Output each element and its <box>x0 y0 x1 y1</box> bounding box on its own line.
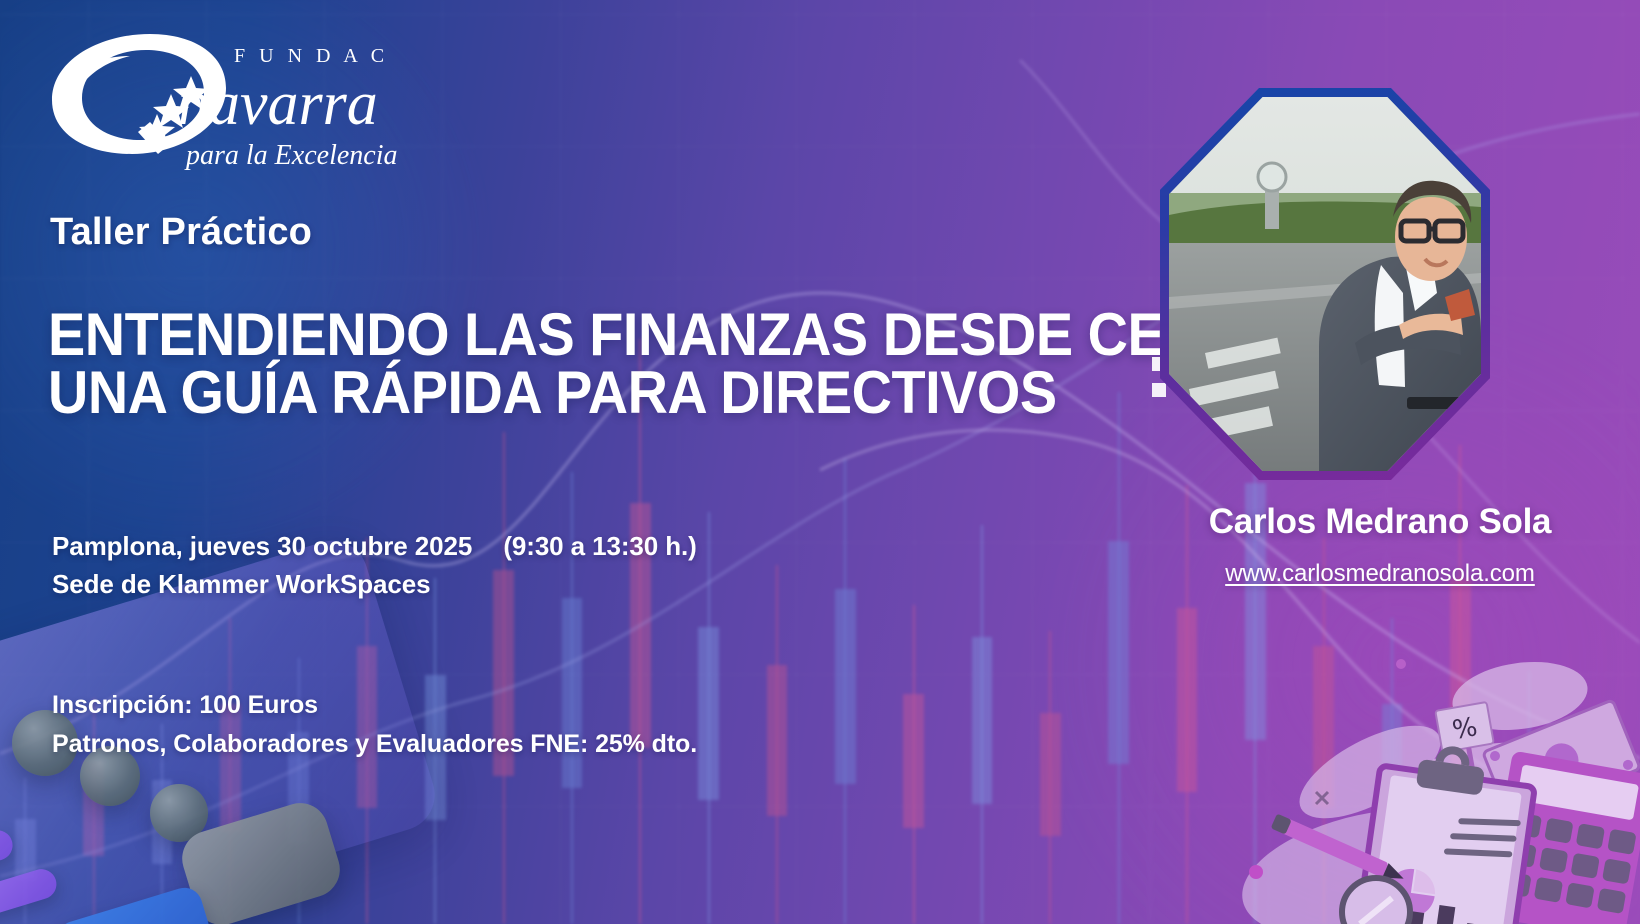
title-line-1: ENTENDIENDO LAS FINANZAS DESDE CERO: <box>48 306 1062 364</box>
speaker-portrait <box>1169 97 1481 471</box>
speaker-website-link[interactable]: www.carlosmedranosola.com <box>1120 560 1640 588</box>
pricing-details: Inscripción: 100 Euros Patronos, Colabor… <box>52 686 697 764</box>
decoration-finance-illustration: % <box>1220 624 1640 924</box>
event-time: (9:30 a 13:30 h.) <box>479 531 696 561</box>
decorative-square <box>1152 383 1166 397</box>
svg-text:%: % <box>1450 712 1480 746</box>
avatar <box>1169 97 1481 471</box>
svg-text:para la Excelencia: para la Excelencia <box>184 140 397 171</box>
logo-fundacion-navarra: F U N D A C I Ó N navarra para la Excele… <box>38 26 398 178</box>
event-venue: Sede de Klammer WorkSpaces <box>52 566 697 604</box>
pricing-fee: Inscripción: 100 Euros <box>52 686 697 725</box>
svg-text:F U N D A C I Ó N: F U N D A C I Ó N <box>234 43 398 67</box>
event-details: Pamplona, jueves 30 octubre 2025 (9:30 a… <box>52 528 697 603</box>
title-line-2: UNA GUÍA RÁPIDA PARA DIRECTIVOS <box>48 364 1062 422</box>
svg-text:navarra: navarra <box>178 70 378 138</box>
kicker-label: Taller Práctico <box>50 211 312 254</box>
speaker-photo-frame <box>1160 88 1490 480</box>
event-place-date-row: Pamplona, jueves 30 octubre 2025 (9:30 a… <box>52 528 697 566</box>
page-title: ENTENDIENDO LAS FINANZAS DESDE CERO: UNA… <box>48 306 1062 421</box>
pricing-discount: Patronos, Colaboradores y Evaluadores FN… <box>52 725 697 764</box>
speaker-name: Carlos Medrano Sola <box>1120 502 1640 542</box>
event-place-date: Pamplona, jueves 30 octubre 2025 <box>52 531 472 561</box>
event-promo-banner: % <box>0 0 1640 924</box>
